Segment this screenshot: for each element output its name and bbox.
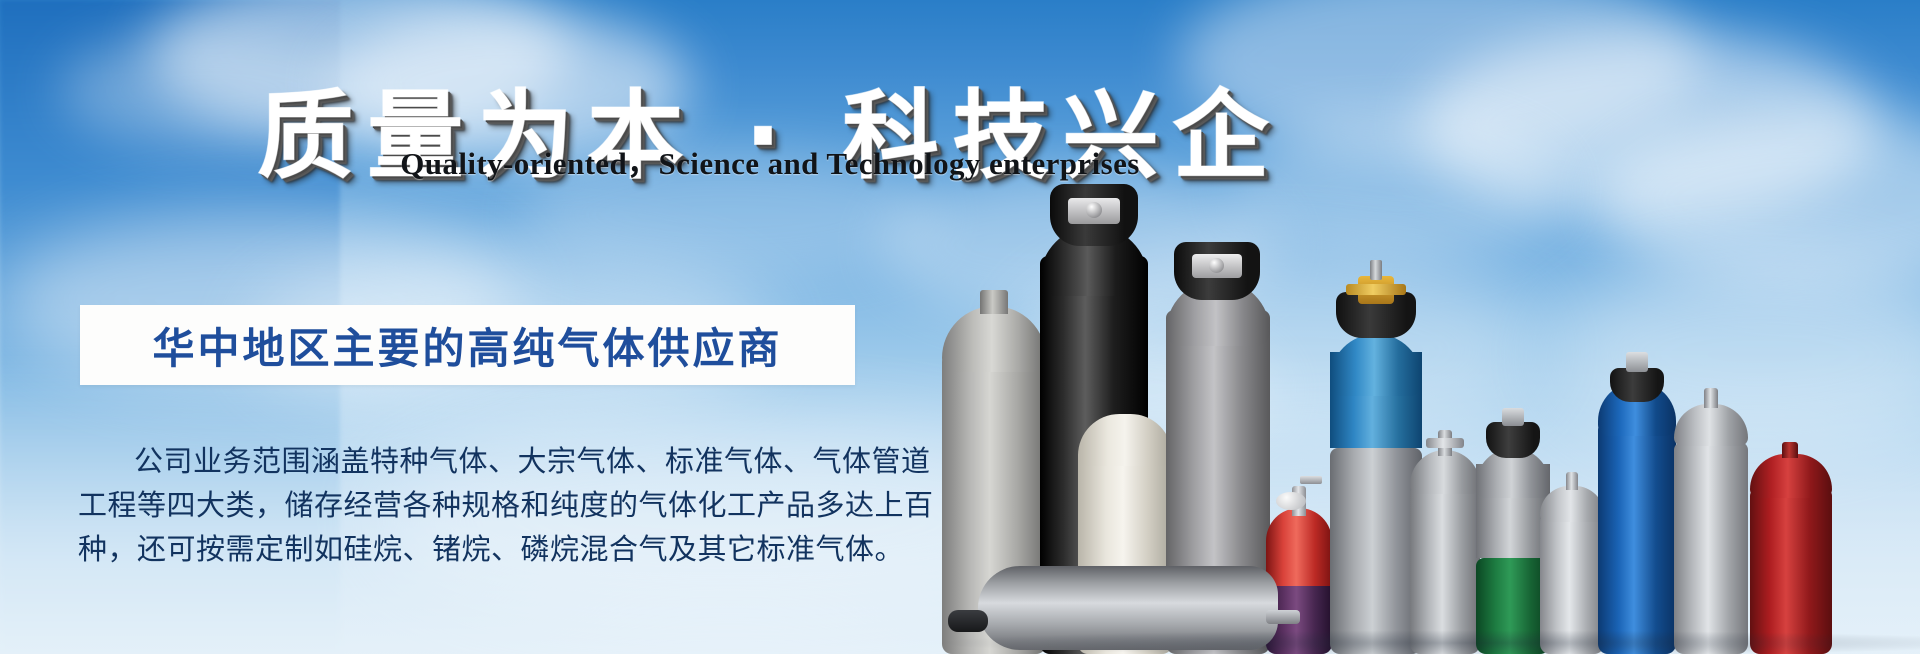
blue-striped-cylinder <box>1330 282 1422 654</box>
highlight-banner-box: 华中地区主要的高纯气体供应商 <box>80 305 855 385</box>
company-description: 公司业务范围涵盖特种气体、大宗气体、标准气体、气体管道 工程等四大类，储存经营各… <box>78 440 868 572</box>
description-line: 种，还可按需定制如硅烷、锗烷、磷烷混合气及其它标准气体。 <box>78 528 868 572</box>
silver-cylinder <box>1410 450 1480 654</box>
lying-tank-valve <box>948 610 988 632</box>
lying-silver-cylinder <box>1674 404 1748 654</box>
blue-gas-cylinder <box>1598 368 1676 654</box>
description-line: 公司业务范围涵盖特种气体、大宗气体、标准气体、气体管道 <box>78 440 868 484</box>
red-cylinder <box>1750 454 1832 654</box>
lying-tank-neck <box>1266 610 1300 624</box>
highlight-banner-text: 华中地区主要的高纯气体供应商 <box>80 305 855 385</box>
green-gray-cylinder <box>1476 422 1550 654</box>
subtitle-english: Quality-oriented，Science and Technology … <box>0 138 1540 183</box>
description-line: 工程等四大类，储存经营各种规格和纯度的气体化工产品多达上百 <box>78 484 868 528</box>
product-ground-shadow <box>930 630 1920 654</box>
hero-banner: 质量为本 · 科技兴企 Quality-oriented，Science and… <box>0 0 1920 654</box>
aluminium-cylinder <box>1540 486 1604 654</box>
gas-cylinder-lineup <box>930 150 1920 654</box>
